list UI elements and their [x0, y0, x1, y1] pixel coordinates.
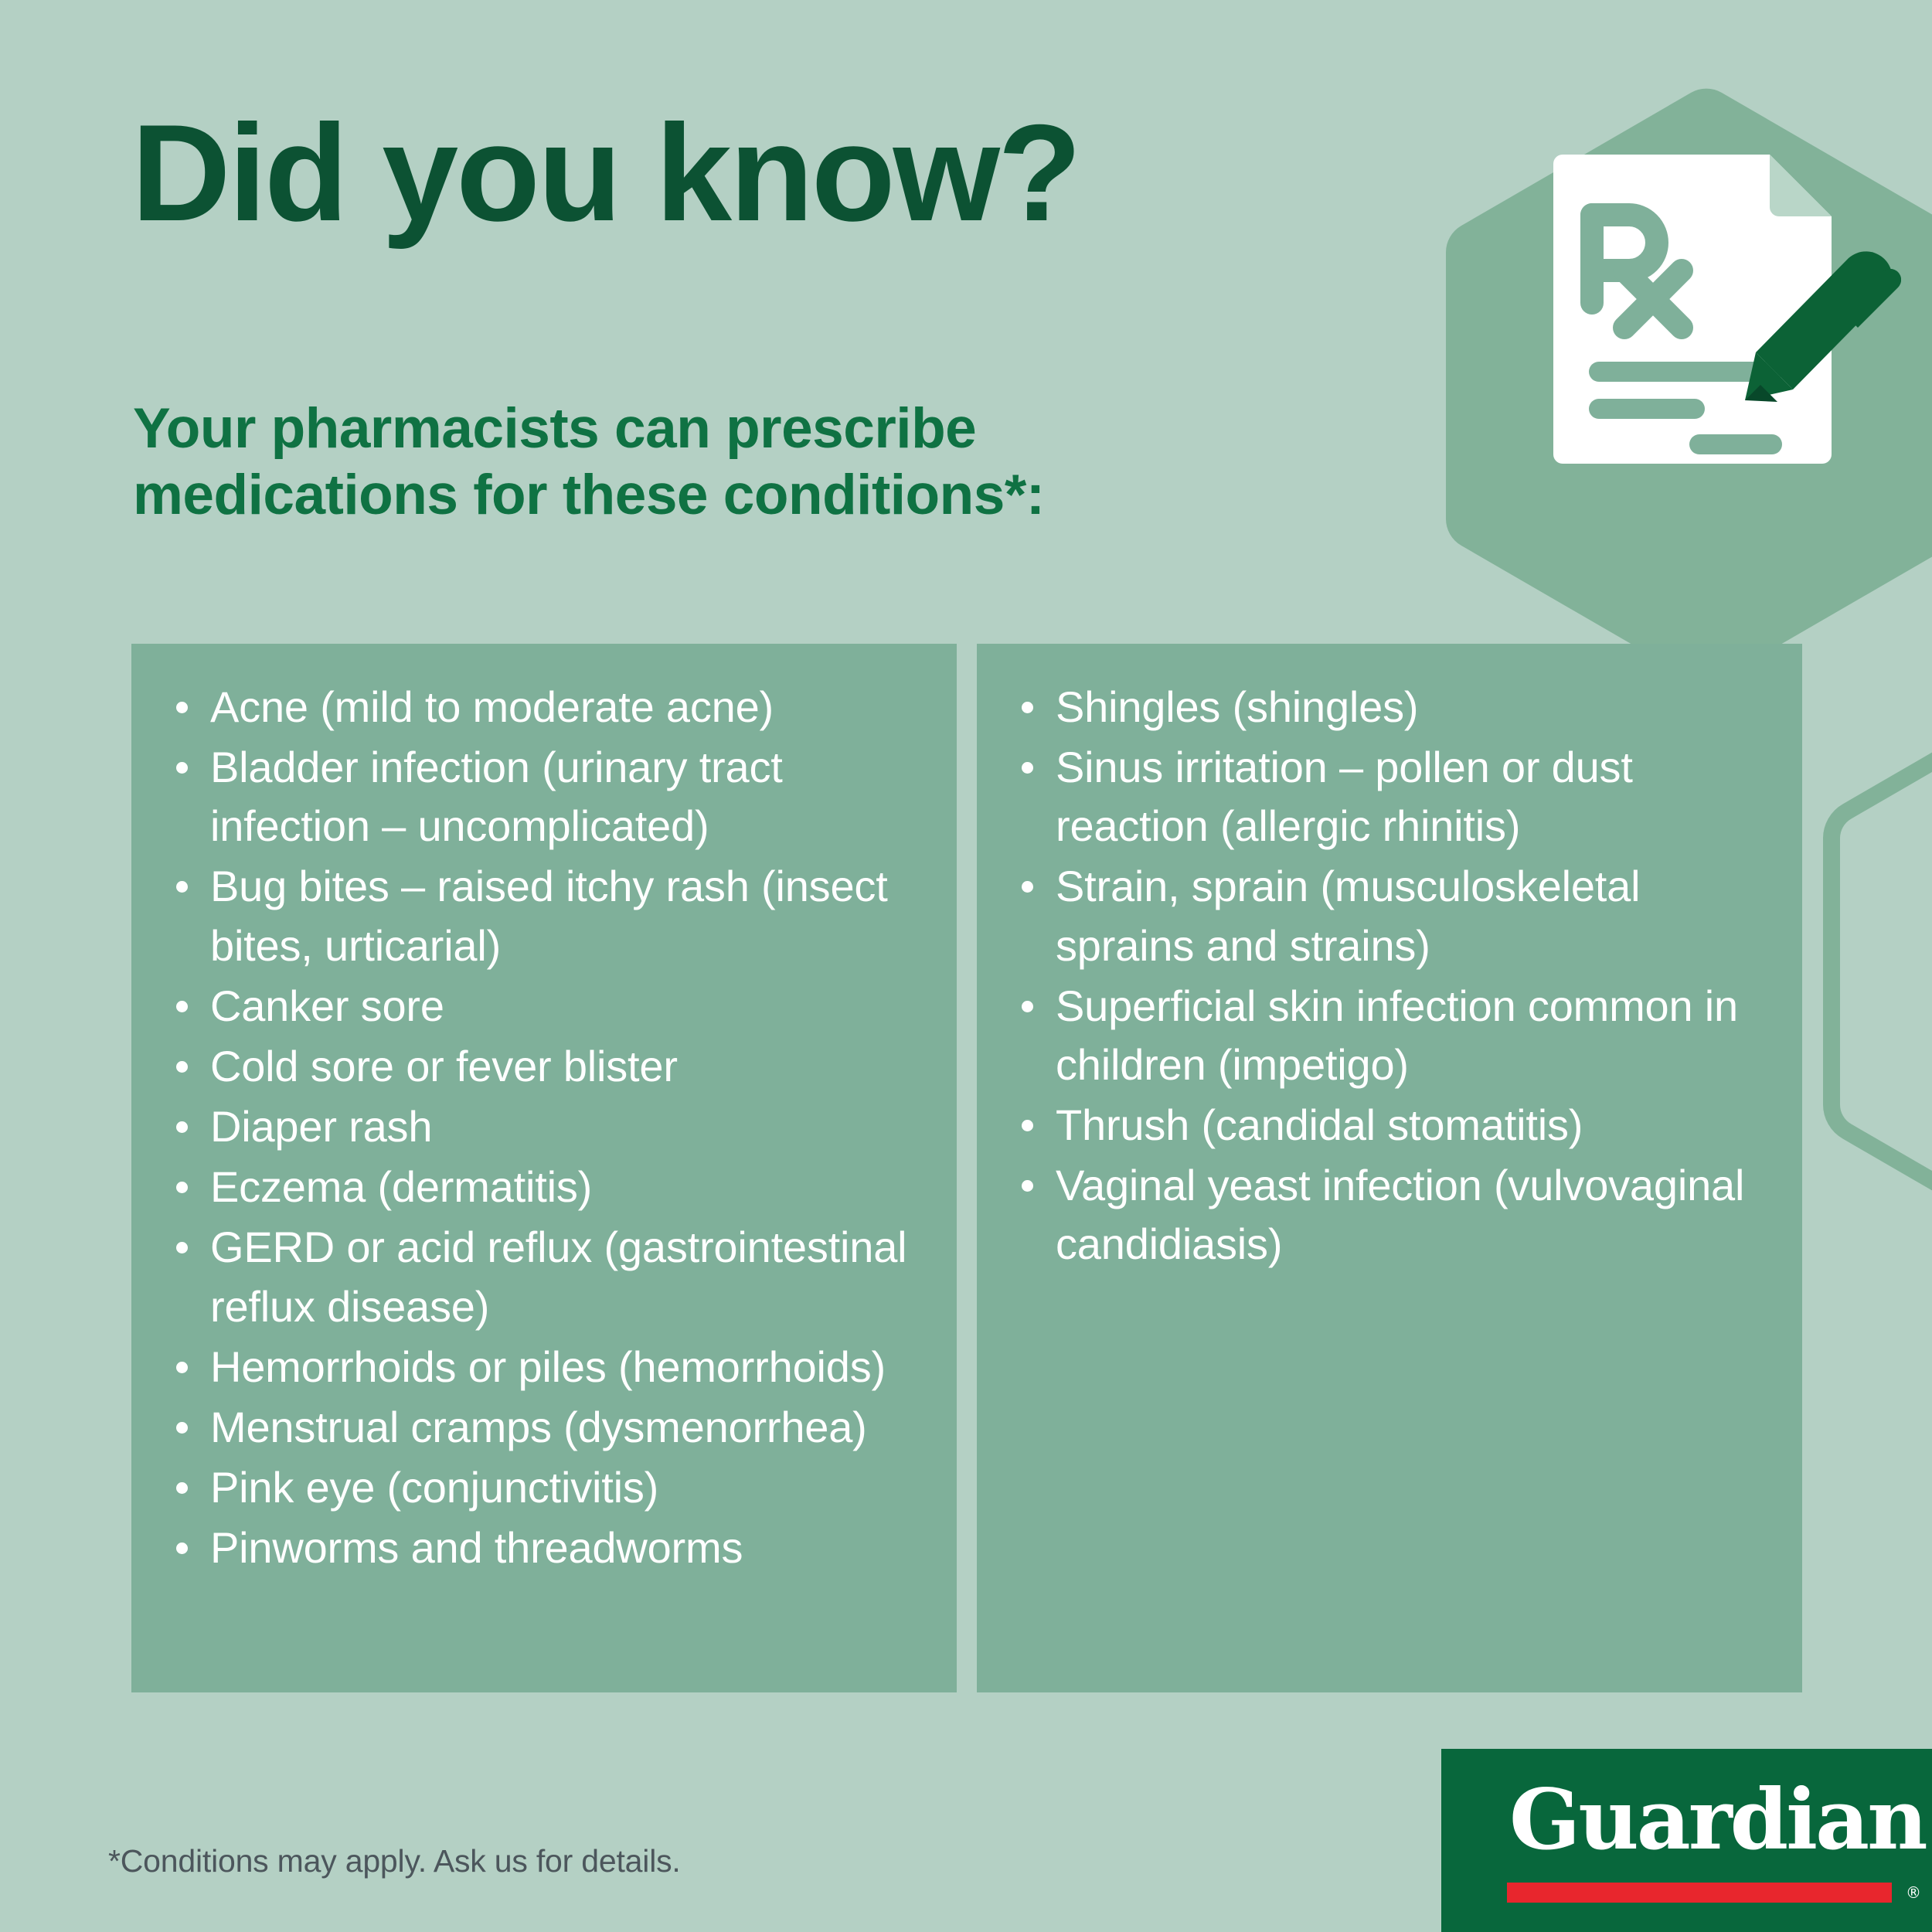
page-title: Did you know?: [131, 104, 1080, 242]
list-item: Thrush (candidal stomatitis): [1011, 1096, 1771, 1155]
list-item: Hemorrhoids or piles (hemorrhoids): [165, 1338, 926, 1396]
page-subtitle-line-1: Your pharmacists can prescribe: [133, 396, 1045, 462]
conditions-list-left: Acne (mild to moderate acne) Bladder inf…: [165, 678, 926, 1577]
list-item: Eczema (dermatitis): [165, 1158, 926, 1216]
list-item: Pink eye (conjunctivitis): [165, 1458, 926, 1517]
list-item: Canker sore: [165, 977, 926, 1036]
list-item: Superficial skin infection common in chi…: [1011, 977, 1771, 1094]
disclaimer-footnote: *Conditions may apply. Ask us for detail…: [108, 1843, 681, 1879]
document-line-2: [1589, 399, 1705, 419]
document-folded-corner: [1770, 155, 1832, 216]
list-item: Bug bites – raised itchy rash (insect bi…: [165, 857, 926, 975]
list-item: Pinworms and threadworms: [165, 1519, 926, 1577]
list-item: Sinus irritation – pollen or dust reacti…: [1011, 738, 1771, 855]
guardian-red-bar: [1507, 1883, 1892, 1903]
page-subtitle-line-2: medications for these conditions*:: [133, 462, 1045, 529]
guardian-logo: Guardian ®: [1441, 1749, 1932, 1932]
page-subtitle: Your pharmacists can prescribe medicatio…: [133, 396, 1045, 529]
list-item: Vaginal yeast infection (vulvovaginal ca…: [1011, 1156, 1771, 1274]
list-item: Menstrual cramps (dysmenorrhea): [165, 1398, 926, 1457]
list-item: Shingles (shingles): [1011, 678, 1771, 736]
registered-trademark-icon: ®: [1906, 1885, 1921, 1900]
conditions-panel-right: Shingles (shingles) Sinus irritation – p…: [977, 644, 1802, 1692]
list-item: Diaper rash: [165, 1097, 926, 1156]
list-item: Strain, sprain (musculoskeletal sprains …: [1011, 857, 1771, 975]
list-item: Cold sore or fever blister: [165, 1037, 926, 1096]
list-item: GERD or acid reflux (gastrointestinal re…: [165, 1218, 926, 1335]
list-item: Acne (mild to moderate acne): [165, 678, 926, 736]
infographic-poster: Did you know? Your pharmacists can presc…: [0, 0, 1932, 1932]
guardian-wordmark: Guardian: [1509, 1778, 1926, 1862]
hexagon-outline-right: [1832, 675, 1932, 1269]
list-item: Bladder infection (urinary tract infecti…: [165, 738, 926, 855]
document-signature-line: [1689, 434, 1782, 454]
prescription-document-with-pen-icon: [1538, 155, 1901, 487]
conditions-list-right: Shingles (shingles) Sinus irritation – p…: [1011, 678, 1771, 1274]
conditions-panel-left: Acne (mild to moderate acne) Bladder inf…: [131, 644, 957, 1692]
